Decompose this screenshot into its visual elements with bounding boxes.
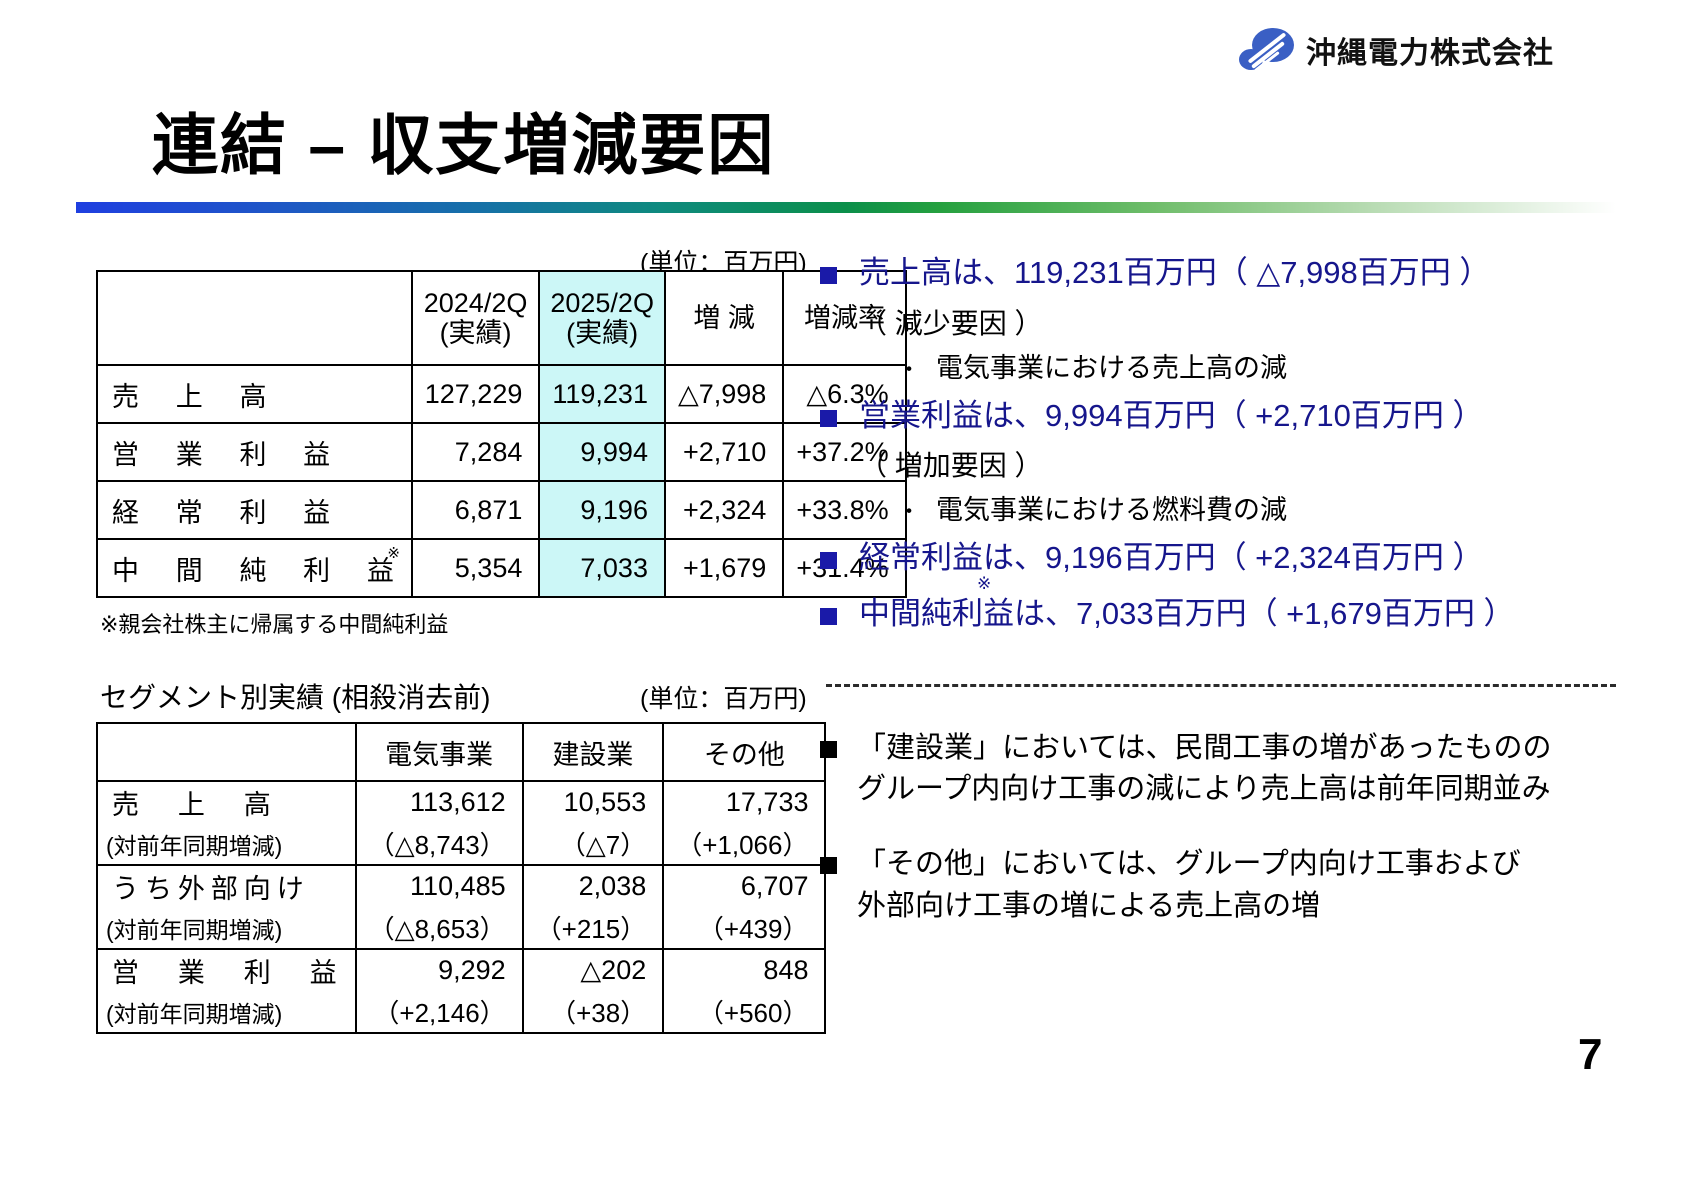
- bullet-square-icon: [820, 741, 837, 758]
- table-row: (対前年同期増減) （+2,146） （+38） （+560）: [97, 991, 825, 1033]
- highlight-item-interim-net-income: ※ 中間純利益は、7,033百万円（ +1,679百万円 ）: [820, 593, 1660, 635]
- row-label-sales: 売 上 高: [97, 365, 412, 423]
- table-header-row: 2024/2Q (実績) 2025/2Q (実績) 増 減 増減率: [97, 271, 906, 365]
- highlight-operating-income-factor-label: （ 増加要因 ）: [859, 444, 1660, 484]
- bullet-square-icon: [820, 410, 837, 427]
- segment-operating-income-delta-electric: （+2,146）: [356, 991, 523, 1033]
- highlight-item-operating-income: 営業利益は、9,994百万円（ +2,710百万円 ）: [820, 395, 1660, 437]
- segment-sales-other: 17,733: [663, 781, 825, 823]
- table-row: 売 上 高 113,612 10,553 17,733: [97, 781, 825, 823]
- highlight-item-sales: 売上高は、119,231百万円（ △7,998百万円 ）: [820, 252, 1660, 294]
- segment-external-delta-construction: （+215）: [523, 907, 664, 949]
- segment-external-delta-other: （+439）: [663, 907, 825, 949]
- page-number: 7: [1578, 1030, 1602, 1080]
- row-label-operating-income: 営 業 利 益: [97, 423, 412, 481]
- bullet-square-icon: [820, 608, 837, 625]
- segment-header-electric: 電気事業: [356, 723, 523, 781]
- table-row: (対前年同期増減) （△8,653） （+215） （+439）: [97, 907, 825, 949]
- company-logo: 沖縄電力株式会社: [1238, 26, 1554, 74]
- segment-external-delta-label: (対前年同期増減): [97, 907, 356, 949]
- cell-sales-2024: 127,229: [412, 365, 540, 423]
- segment-external-other: 6,707: [663, 865, 825, 907]
- highlight-interim-net-income-heading-text: 中間純利益は、7,033百万円（ +1,679百万円 ）: [859, 596, 1514, 631]
- segment-sales-delta-label: (対前年同期増減): [97, 823, 356, 865]
- highlight-sales-factor-label: （ 減少要因 ）: [859, 302, 1660, 342]
- header-change: 増 減: [665, 271, 783, 365]
- cell-interim-net-income-change: +1,679: [665, 539, 783, 597]
- row-label-interim-net-income: 中 間 純 利 益 ※: [97, 539, 412, 597]
- cell-operating-income-change: +2,710: [665, 423, 783, 481]
- segment-table-unit-label: (単位：百万円): [640, 679, 807, 715]
- segment-sales-delta-construction: （△7）: [523, 823, 664, 865]
- table-row: 営 業 利 益 7,284 9,994 +2,710 +37.2%: [97, 423, 906, 481]
- highlights-list: 売上高は、119,231百万円（ △7,998百万円 ） （ 減少要因 ） ・ …: [820, 252, 1660, 634]
- segment-header-construction: 建設業: [523, 723, 664, 781]
- segment-note-other-line1: 「その他」においては、グループ内向け工事および: [857, 844, 1521, 885]
- header-blank: [97, 271, 412, 365]
- segment-note-other-text: 「その他」においては、グループ内向け工事および 外部向け工事の増による売上高の増: [857, 844, 1521, 926]
- segment-operating-income-construction: △202: [523, 949, 664, 991]
- cell-ordinary-income-change: +2,324: [665, 481, 783, 539]
- segment-row-label-sales: 売 上 高: [97, 781, 356, 823]
- row-label-ordinary-income: 経 常 利 益: [97, 481, 412, 539]
- segment-external-electric: 110,485: [356, 865, 523, 907]
- cell-interim-net-income-2025: 7,033: [539, 539, 665, 597]
- segment-external-construction: 2,038: [523, 865, 664, 907]
- segment-sales-electric: 113,612: [356, 781, 523, 823]
- segment-row-label-external: うち外部向け: [97, 865, 356, 907]
- consolidated-results-table: 2024/2Q (実績) 2025/2Q (実績) 増 減 増減率 売 上 高 …: [96, 270, 907, 598]
- cell-sales-2025: 119,231: [539, 365, 665, 423]
- header-2024-2q-sub: (実績): [421, 318, 531, 348]
- header-2025-2q: 2025/2Q (実績): [539, 271, 665, 365]
- table-header-row: 電気事業 建設業 その他: [97, 723, 825, 781]
- header-2025-2q-sub: (実績): [548, 318, 656, 348]
- segment-note-other-line2: 外部向け工事の増による売上高の増: [857, 886, 1521, 927]
- segment-notes-list: 「建設業」においては、民間工事の増があったものの グループ内向け工事の減により売…: [820, 728, 1680, 961]
- bullet-square-icon: [820, 267, 837, 284]
- segment-sales-delta-other: （+1,066）: [663, 823, 825, 865]
- segment-operating-income-electric: 9,292: [356, 949, 523, 991]
- company-name: 沖縄電力株式会社: [1306, 28, 1554, 72]
- table-row: 経 常 利 益 6,871 9,196 +2,324 +33.8%: [97, 481, 906, 539]
- bullet-square-icon: [820, 552, 837, 569]
- segment-note-construction-line2: グループ内向け工事の減により売上高は前年同期並み: [857, 769, 1552, 810]
- segment-sales-construction: 10,553: [523, 781, 664, 823]
- segment-row-label-operating-income: 営 業 利 益: [97, 949, 356, 991]
- segment-header-other: その他: [663, 723, 825, 781]
- segment-header-blank: [97, 723, 356, 781]
- segment-operating-income-delta-construction: （+38）: [523, 991, 664, 1033]
- cell-ordinary-income-2025: 9,196: [539, 481, 665, 539]
- highlight-item-ordinary-income: 経常利益は、9,196百万円（ +2,324百万円 ）: [820, 537, 1660, 579]
- cell-sales-change: △7,998: [665, 365, 783, 423]
- segment-operating-income-delta-other: （+560）: [663, 991, 825, 1033]
- dot-bullet-icon: ・: [898, 352, 920, 384]
- highlight-sales-detail-text: 電気事業における売上高の減: [936, 346, 1287, 385]
- dot-bullet-icon: ・: [898, 494, 920, 526]
- segment-operating-income-other: 848: [663, 949, 825, 991]
- asterisk-marker: ※: [387, 544, 404, 562]
- segment-note-construction-line1: 「建設業」においては、民間工事の増があったものの: [857, 728, 1552, 769]
- segment-sales-delta-electric: （△8,743）: [356, 823, 523, 865]
- cell-interim-net-income-2024: 5,354: [412, 539, 540, 597]
- segment-note-construction: 「建設業」においては、民間工事の増があったものの グループ内向け工事の減により売…: [820, 728, 1680, 810]
- highlight-operating-income-detail-text: 電気事業における燃料費の減: [936, 488, 1287, 527]
- highlight-ordinary-income-heading: 経常利益は、9,196百万円（ +2,324百万円 ）: [859, 537, 1483, 579]
- highlight-sales-heading: 売上高は、119,231百万円（ △7,998百万円 ）: [859, 252, 1490, 294]
- segment-external-delta-electric: （△8,653）: [356, 907, 523, 949]
- highlight-operating-income-detail: ・ 電気事業における燃料費の減: [898, 488, 1660, 527]
- cell-operating-income-2024: 7,284: [412, 423, 540, 481]
- page-title: 連結 – 収支増減要因: [152, 92, 775, 188]
- row-label-interim-net-income-text: 中 間 純 利 益: [112, 556, 399, 586]
- asterisk-marker: ※: [977, 573, 991, 596]
- header-2024-2q-main: 2024/2Q: [421, 288, 531, 318]
- table-row: うち外部向け 110,485 2,038 6,707: [97, 865, 825, 907]
- segment-note-construction-text: 「建設業」においては、民間工事の増があったものの グループ内向け工事の減により売…: [857, 728, 1552, 810]
- segment-operating-income-delta-label: (対前年同期増減): [97, 991, 356, 1033]
- segment-section-title: セグメント別実績 (相殺消去前): [100, 676, 490, 716]
- top-table-footnote: ※親会社株主に帰属する中間純利益: [100, 607, 448, 639]
- highlight-sales-detail: ・ 電気事業における売上高の減: [898, 346, 1660, 385]
- segment-note-other: 「その他」においては、グループ内向け工事および 外部向け工事の増による売上高の増: [820, 844, 1680, 926]
- header-2025-2q-main: 2025/2Q: [548, 288, 656, 318]
- section-divider: [826, 684, 1616, 687]
- table-row: 売 上 高 127,229 119,231 △7,998 △6.3%: [97, 365, 906, 423]
- table-row: 営 業 利 益 9,292 △202 848: [97, 949, 825, 991]
- bullet-square-icon: [820, 857, 837, 874]
- highlight-interim-net-income-heading: ※ 中間純利益は、7,033百万円（ +1,679百万円 ）: [859, 593, 1514, 635]
- highlight-operating-income-heading: 営業利益は、9,994百万円（ +2,710百万円 ）: [859, 395, 1483, 437]
- cloud-swoosh-icon: [1238, 26, 1296, 74]
- table-row: (対前年同期増減) （△8,743） （△7） （+1,066）: [97, 823, 825, 865]
- cell-ordinary-income-2024: 6,871: [412, 481, 540, 539]
- header-2024-2q: 2024/2Q (実績): [412, 271, 540, 365]
- segment-results-table: 電気事業 建設業 その他 売 上 高 113,612 10,553 17,733…: [96, 722, 826, 1034]
- table-row: 中 間 純 利 益 ※ 5,354 7,033 +1,679 +31.4%: [97, 539, 906, 597]
- cell-operating-income-2025: 9,994: [539, 423, 665, 481]
- title-gradient-rule: [76, 202, 1616, 213]
